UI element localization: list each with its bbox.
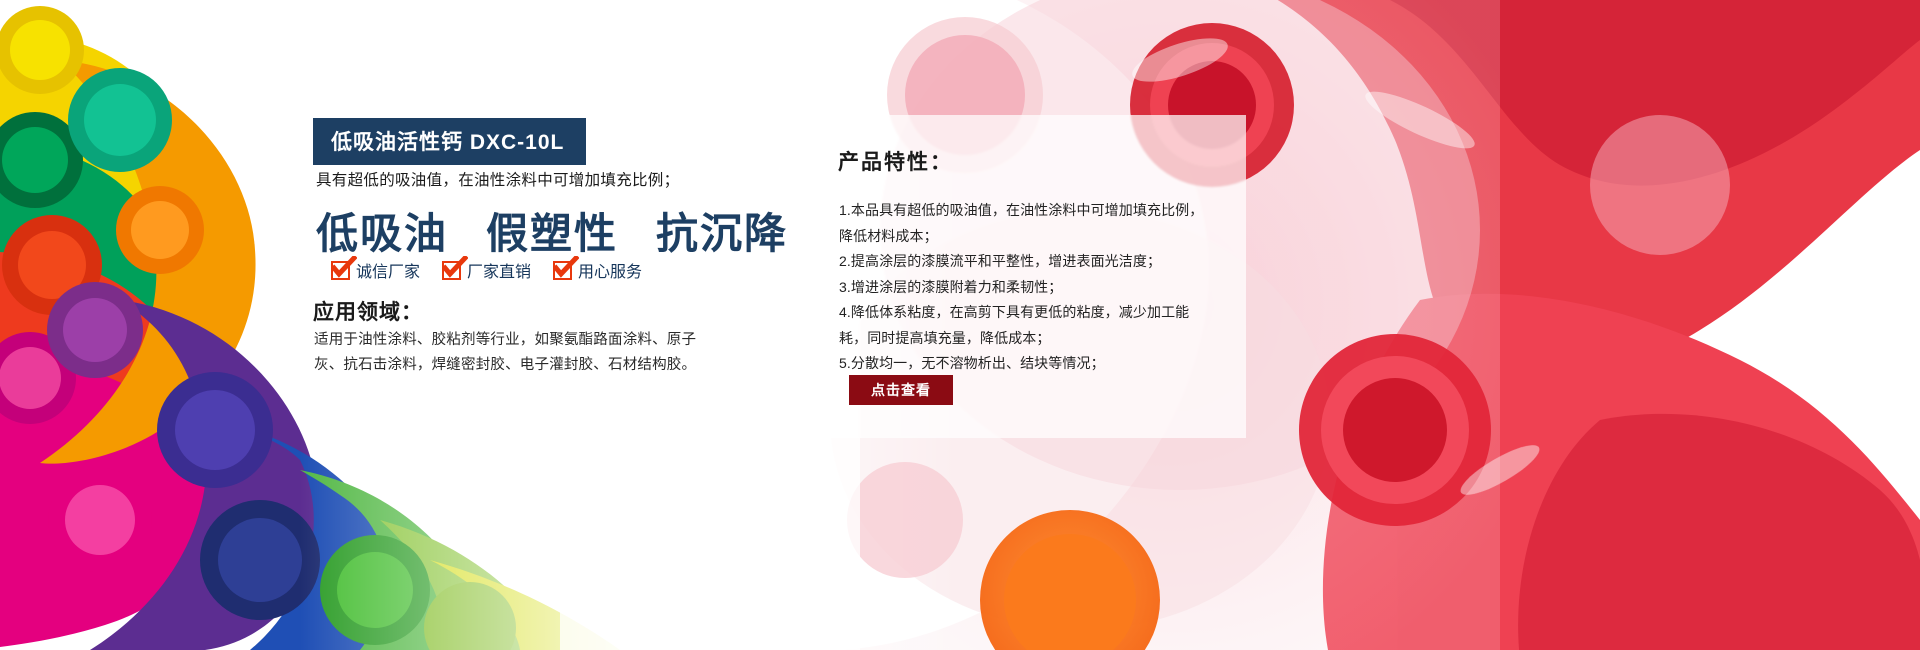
view-details-button[interactable]: 点击查看 <box>849 375 953 405</box>
checkbox-check-icon <box>442 261 461 280</box>
features-title: 产品特性： <box>838 146 953 176</box>
trust-badge-row: 诚信厂家 厂家直销 用心服务 <box>331 258 642 282</box>
headline-word-2: 假塑性 <box>486 200 618 261</box>
product-title-badge: 低吸油活性钙 DXC-10L <box>313 118 586 165</box>
headline-word-1: 低吸油 <box>316 200 448 261</box>
trust-badge-2-label: 厂家直销 <box>467 258 531 282</box>
product-subtitle: 具有超低的吸油值，在油性涂料中可增加填充比例； <box>316 168 679 190</box>
trust-badge-3: 用心服务 <box>553 258 642 282</box>
feature-item-5: 5.分散均一，无不溶物析出、结块等情况； <box>839 351 1217 377</box>
feature-item-1: 1.本品具有超低的吸油值，在油性涂料中可增加填充比例，降低材料成本； <box>839 198 1217 249</box>
feature-item-3: 3.增进涂层的漆膜附着力和柔韧性； <box>839 275 1217 301</box>
checkbox-check-icon <box>331 261 350 280</box>
trust-badge-3-label: 用心服务 <box>578 258 642 282</box>
feature-item-4: 4.降低体系粘度，在高剪下具有更低的粘度，减少加工能耗，同时提高填充量，降低成本… <box>839 300 1217 351</box>
headline-word-3: 抗沉降 <box>656 200 788 261</box>
checkbox-check-icon <box>553 261 572 280</box>
headline-keywords: 低吸油 假塑性 抗沉降 <box>316 200 788 261</box>
feature-item-2: 2.提高涂层的漆膜流平和平整性，增进表面光洁度； <box>839 249 1217 275</box>
trust-badge-2: 厂家直销 <box>442 258 531 282</box>
application-body: 适用于油性涂料、胶粘剂等行业，如聚氨酯路面涂料、原子灰、抗石击涂料，焊缝密封胶、… <box>314 328 718 378</box>
application-title: 应用领域： <box>313 296 423 326</box>
features-list: 1.本品具有超低的吸油值，在油性涂料中可增加填充比例，降低材料成本； 2.提高涂… <box>839 198 1217 377</box>
trust-badge-1: 诚信厂家 <box>331 258 420 282</box>
trust-badge-1-label: 诚信厂家 <box>356 258 420 282</box>
promo-banner: 低吸油活性钙 DXC-10L 具有超低的吸油值，在油性涂料中可增加填充比例； 低… <box>0 0 1920 650</box>
